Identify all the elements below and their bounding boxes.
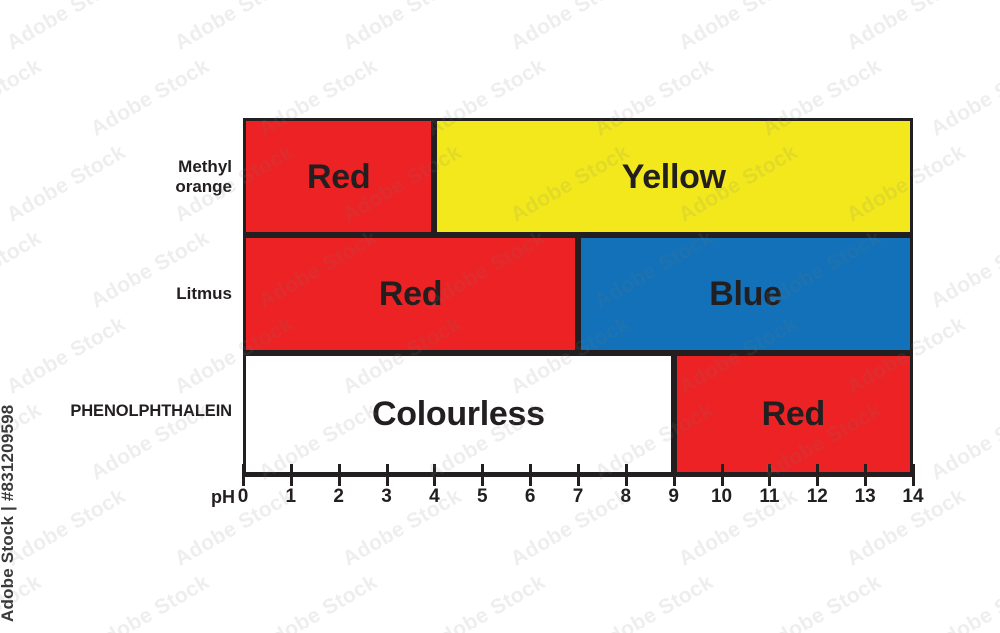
axis-tick-10	[721, 464, 724, 486]
colour-band-litmus-red: Red	[243, 235, 578, 353]
axis-tick-13	[864, 464, 867, 486]
axis-tick-label-1: 1	[271, 486, 311, 508]
row-label-methyl-orange: Methyl orange	[20, 157, 232, 197]
band-label-methyl-orange-yellow: Yellow	[622, 160, 726, 194]
axis-tick-label-8: 8	[606, 486, 646, 508]
ph-indicator-chart: Methyl orange Litmus PHENOLPHTHALEIN Red…	[0, 0, 1000, 633]
axis-tick-label-5: 5	[462, 486, 502, 508]
axis-tick-label-7: 7	[558, 486, 598, 508]
axis-tick-label-14: 14	[893, 486, 933, 508]
axis-tick-7	[577, 464, 580, 486]
axis-tick-label-12: 12	[797, 486, 837, 508]
axis-tick-14	[912, 464, 915, 486]
axis-tick-label-3: 3	[367, 486, 407, 508]
axis-tick-label-11: 11	[749, 486, 789, 508]
axis-tick-2	[338, 464, 341, 486]
axis-tick-label-10: 10	[702, 486, 742, 508]
axis-tick-label-6: 6	[510, 486, 550, 508]
axis-tick-0	[242, 464, 245, 486]
colour-band-litmus-blue: Blue	[578, 235, 913, 353]
row-label-litmus: Litmus	[20, 284, 232, 304]
axis-tick-8	[625, 464, 628, 486]
band-label-phenolphthalein-colourless: Colourless	[372, 397, 545, 431]
axis-tick-9	[673, 464, 676, 486]
band-label-methyl-orange-red: Red	[307, 160, 370, 194]
axis-tick-label-13: 13	[845, 486, 885, 508]
axis-tick-6	[529, 464, 532, 486]
axis-tick-4	[433, 464, 436, 486]
colour-band-methyl-orange-red: Red	[243, 118, 434, 235]
colour-band-methyl-orange-yellow: Yellow	[434, 118, 913, 235]
axis-tick-1	[290, 464, 293, 486]
band-label-phenolphthalein-red: Red	[762, 397, 825, 431]
colour-band-phenolphthalein-colourless: Colourless	[243, 353, 674, 475]
ph-axis-title: pH	[185, 487, 235, 508]
stock-credit-watermark: Adobe Stock | #831209598	[0, 372, 18, 622]
axis-tick-5	[481, 464, 484, 486]
band-label-litmus-blue: Blue	[709, 277, 781, 311]
axis-tick-label-4: 4	[414, 486, 454, 508]
axis-tick-label-2: 2	[319, 486, 359, 508]
axis-tick-label-9: 9	[654, 486, 694, 508]
row-label-phenolphthalein: PHENOLPHTHALEIN	[10, 402, 232, 421]
colour-band-phenolphthalein-red: Red	[674, 353, 913, 475]
axis-tick-3	[386, 464, 389, 486]
axis-tick-12	[816, 464, 819, 486]
band-label-litmus-red: Red	[379, 277, 442, 311]
axis-tick-11	[768, 464, 771, 486]
